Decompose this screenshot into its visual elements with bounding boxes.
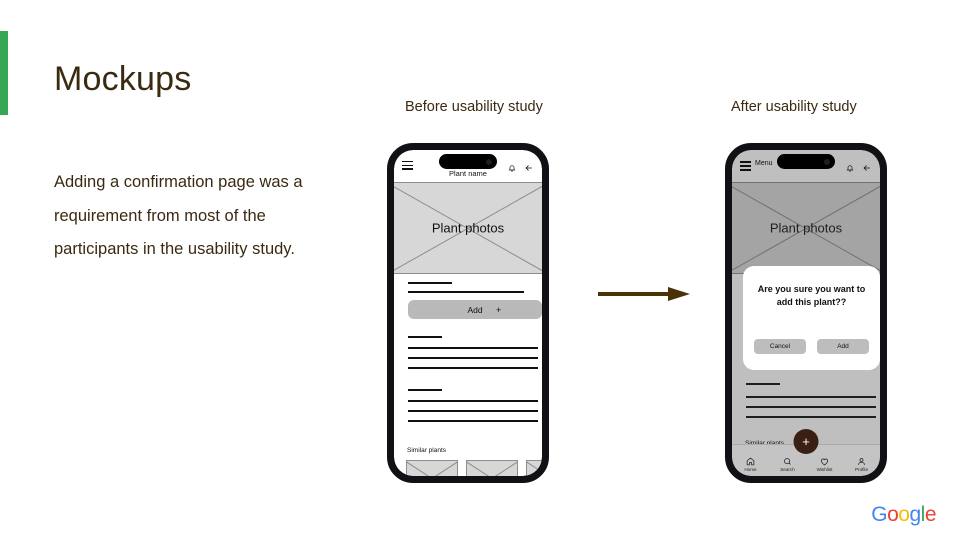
back-arrow-icon[interactable] [524,160,534,170]
dynamic-island [777,154,835,169]
skeleton-line [408,420,538,422]
bell-icon[interactable] [508,160,516,170]
confirmation-dialog: Are you sure you want to add this plant?… [743,266,880,370]
hamburger-icon[interactable] [740,161,751,169]
hero-label: Plant photos [394,221,542,236]
skeleton-line [408,400,538,402]
arrow-head [668,287,690,301]
transition-arrow-icon [598,287,690,301]
back-arrow-icon[interactable] [862,160,872,170]
page-title: Mockups [54,60,191,99]
bottom-nav-items: Home Search [732,456,880,472]
bottom-nav-label: Home [736,467,766,472]
add-button-label: Add [408,305,542,315]
bell-icon[interactable] [846,160,854,170]
heart-icon [810,456,840,466]
skeleton-line [408,357,538,359]
dialog-message: Are you sure you want to add this plant?… [753,283,870,309]
caption-after: After usability study [731,99,857,115]
similar-plant-thumbnail[interactable] [526,460,542,476]
phone-screen-before: Plant name Plant photos [394,150,542,476]
similar-plant-thumbnail[interactable] [406,460,458,476]
skeleton-line [408,347,538,349]
slide-canvas: Mockups Adding a confirmation page was a… [0,0,960,540]
add-button-plus-icon: + [496,305,501,315]
google-logo-letter-1: o [887,503,898,526]
dynamic-island [439,154,497,169]
home-icon [736,456,766,466]
bottom-nav-label: Wishlist [810,467,840,472]
caption-before: Before usability study [405,99,543,115]
bottom-nav-label: Search [773,467,803,472]
bottom-nav-item-wishlist[interactable]: Wishlist [810,456,840,472]
bottom-nav-item-search[interactable]: Search [773,456,803,472]
menu-label: Menu [755,160,773,167]
dialog-actions: Cancel Add [754,339,869,354]
bottom-nav-item-profile[interactable]: Profile [847,456,877,472]
accent-bar [0,31,8,115]
body-paragraph: Adding a confirmation page was a require… [54,166,324,267]
app-bar-title: Plant name [394,169,542,178]
google-logo-letter-5: e [925,503,936,526]
add-fab-button[interactable]: + [794,429,819,454]
front-camera-icon [824,159,830,165]
similar-plant-thumbnail[interactable] [466,460,518,476]
hamburger-icon[interactable] [402,161,413,169]
front-camera-icon [486,159,492,165]
skeleton-line [408,336,442,338]
google-logo-letter-2: o [898,503,909,526]
phone-volume-up-button[interactable] [725,228,726,254]
google-logo-letter-3: g [909,503,920,526]
phone-screen-after: Menu Plant photos [732,150,880,476]
bottom-nav-label: Profile [847,467,877,472]
arrow-shaft [598,292,670,296]
skeleton-line [408,410,538,412]
phone-silent-switch[interactable] [387,202,388,216]
phone-mockup-after: Menu Plant photos [725,143,887,483]
phone-volume-down-button[interactable] [387,262,388,288]
skeleton-line [408,291,524,293]
phone-power-button[interactable] [886,242,887,280]
person-icon [847,456,877,466]
bottom-nav-item-home[interactable]: Home [736,456,766,472]
add-button[interactable]: Add [408,300,542,319]
phone-volume-down-button[interactable] [725,262,726,288]
phone-mockup-before: Plant name Plant photos [387,143,549,483]
phone-silent-switch[interactable] [725,202,726,216]
hero-image-placeholder-before: Plant photos [394,182,542,274]
phone-power-button[interactable] [548,242,549,280]
skeleton-line [408,282,452,284]
skeleton-line [408,367,538,369]
search-icon [773,456,803,466]
phone-volume-up-button[interactable] [387,228,388,254]
google-logo: Google [871,503,936,527]
similar-plants-label: Similar plants [407,447,446,454]
skeleton-line [408,389,442,391]
google-logo-letter-0: G [871,503,887,526]
confirm-add-button[interactable]: Add [817,339,869,354]
cancel-button[interactable]: Cancel [754,339,806,354]
